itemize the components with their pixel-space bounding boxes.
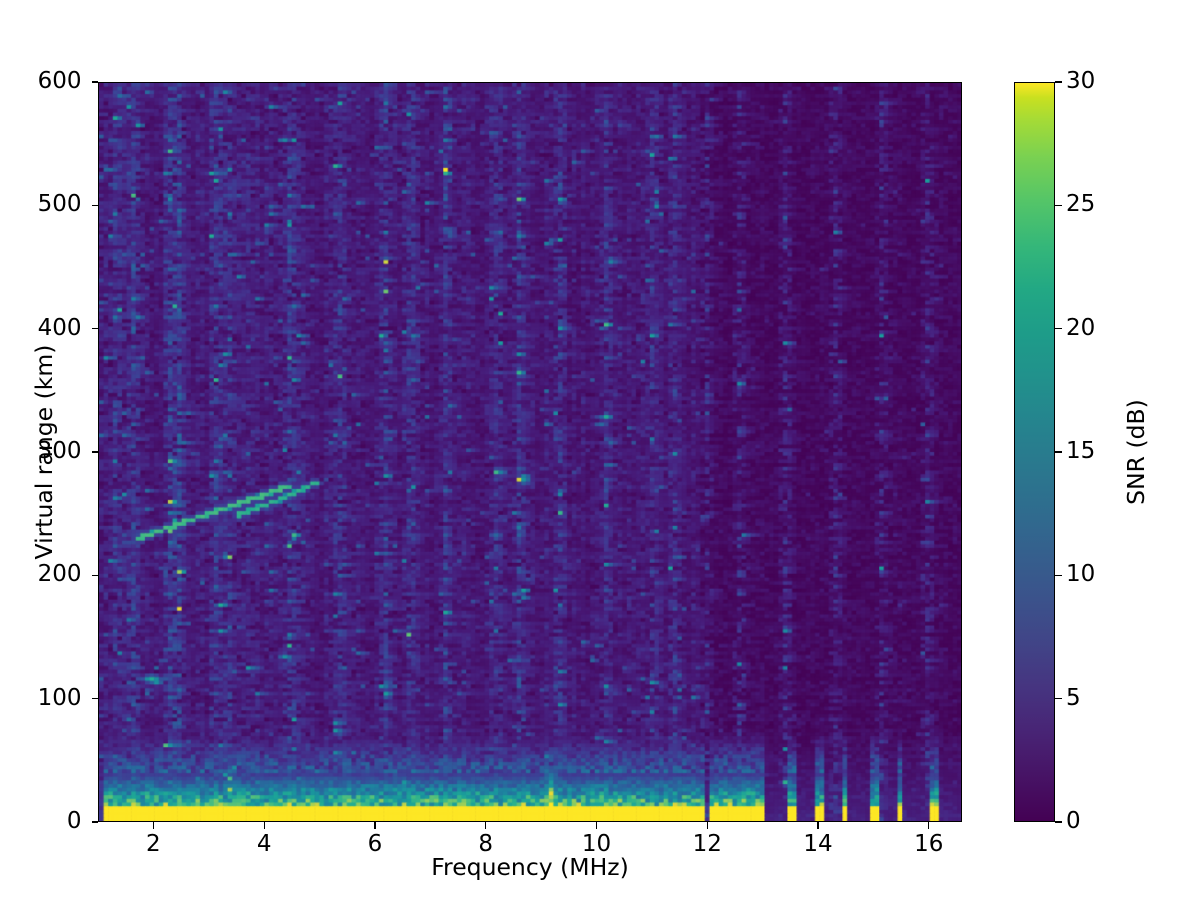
- ionogram-figure: IRF Uppsala SDR Ionosonde UP158 2025-10-…: [0, 0, 1200, 900]
- y-axis-label: Virtual range (km): [30, 82, 58, 822]
- x-tick-mark: [596, 822, 597, 829]
- snr-colorbar: [1014, 82, 1055, 822]
- x-tick-mark: [374, 822, 375, 829]
- colorbar-tick-mark: [1055, 451, 1062, 452]
- colorbar-tick-mark: [1055, 821, 1062, 822]
- colorbar-label: SNR (dB): [1122, 82, 1150, 822]
- y-tick-mark: [92, 205, 99, 206]
- colorbar-tick-mark: [1055, 81, 1062, 82]
- y-tick-mark: [92, 328, 99, 329]
- x-tick-mark: [928, 822, 929, 829]
- ionogram-heatmap: [99, 83, 961, 821]
- y-tick-mark: [92, 821, 99, 822]
- x-tick-mark: [707, 822, 708, 829]
- x-axis-label: Frequency (MHz): [98, 853, 962, 881]
- y-tick-mark: [92, 451, 99, 452]
- y-tick-mark: [92, 81, 99, 82]
- y-tick-mark: [92, 575, 99, 576]
- colorbar-tick-mark: [1055, 328, 1062, 329]
- x-tick-mark: [485, 822, 486, 829]
- colorbar-tick-mark: [1055, 698, 1062, 699]
- x-tick-mark: [264, 822, 265, 829]
- x-tick-mark: [817, 822, 818, 829]
- colorbar-tick-mark: [1055, 575, 1062, 576]
- x-tick-mark: [153, 822, 154, 829]
- ionogram-plot-area: [98, 82, 962, 822]
- y-tick-mark: [92, 698, 99, 699]
- colorbar-tick-mark: [1055, 205, 1062, 206]
